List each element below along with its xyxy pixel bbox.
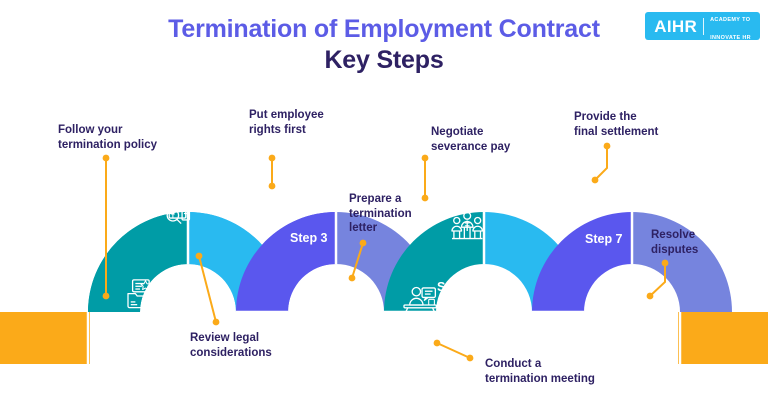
step-number-5: Step 5 [437,280,475,294]
infographic-canvas: Termination of Employment Contract Key S… [0,0,768,402]
step-number-4: Step 4 [340,332,378,346]
step-number-1: Step 1 [96,330,134,344]
ribbon-step-3 [236,212,336,312]
connector-step-5 [437,343,470,358]
callout-step-1: Follow your termination policy [58,123,208,152]
callout-step-6: Negotiate severance pay [431,125,571,154]
step-number-8: Step 8 [632,332,670,346]
step-number-2: Step 2 [190,185,228,199]
connector-step-7 [595,146,607,180]
step-number-6: Step 6 [486,182,524,196]
callout-step-2: Review legal considerations [190,331,340,360]
orange-end-cap [678,312,768,364]
callout-step-7: Provide the final settlement [574,110,704,139]
settlement-gear-icon [538,180,570,209]
step-number-7: Step 7 [585,232,623,246]
callout-step-5: Conduct a termination meeting [485,357,655,386]
dispute-network-icon [594,282,625,311]
callout-step-4: Prepare a termination letter [349,192,459,236]
step-number-3: Step 3 [290,231,328,245]
callout-step-8: Resolve disputes [651,228,761,257]
orange-start-cap [0,312,90,364]
employee-speech-bubble-icon [253,186,276,212]
callout-step-3: Put employee rights first [249,108,379,137]
clipboard-letter-icon [294,280,326,308]
